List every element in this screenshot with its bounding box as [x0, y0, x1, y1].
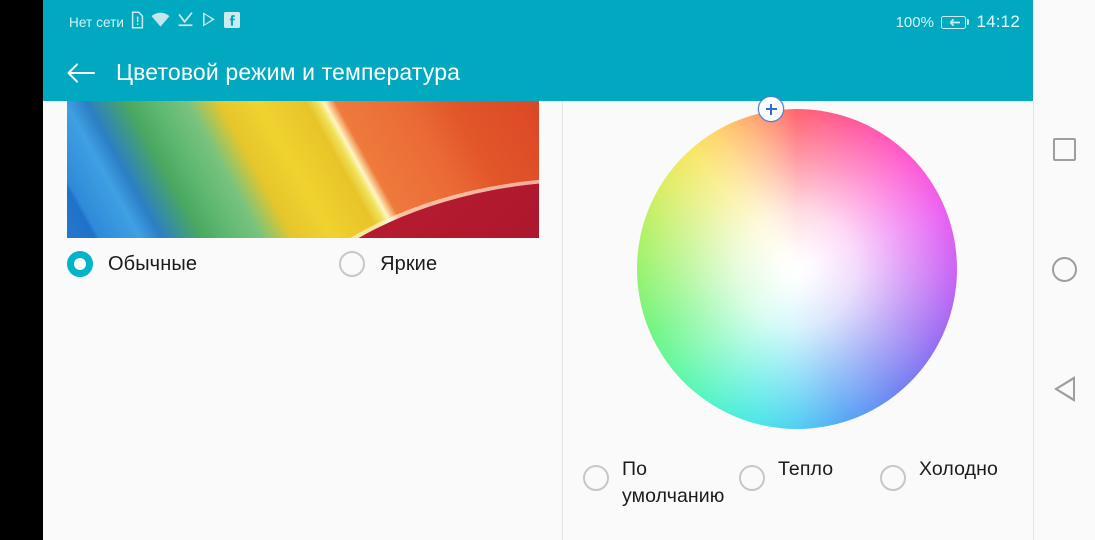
square-icon [1053, 138, 1076, 161]
radio-option-cold[interactable]: Холодно [880, 456, 1015, 491]
arrow-left-icon[interactable] [60, 52, 102, 94]
radio-label-normal: Обычные [108, 253, 197, 276]
radio-indicator-unselected[interactable] [339, 251, 365, 277]
status-bar: Нет сети [43, 0, 1033, 44]
page-title: Цветовой режим и температура [116, 59, 460, 86]
carrier-label: Нет сети [69, 15, 124, 30]
radio-label-vivid: Яркие [380, 253, 437, 276]
triangle-left-icon [1054, 376, 1075, 402]
color-mode-radio-group: Обычные Яркие [67, 251, 437, 277]
radio-label-warm: Тепло [778, 456, 874, 483]
system-navigation-bar [1033, 0, 1095, 540]
circle-icon [1052, 257, 1077, 282]
nav-bar-top-fill [1033, 0, 1095, 101]
color-wheel-handle[interactable] [758, 96, 784, 122]
radio-option-warm[interactable]: Тепло [739, 456, 874, 491]
google-play-icon [201, 11, 217, 33]
battery-percent-label: 100% [896, 14, 934, 31]
color-mode-pane: Обычные Яркие [43, 101, 562, 540]
app-bar: Цветовой режим и температура [43, 44, 1033, 101]
color-temperature-wheel[interactable] [637, 109, 957, 429]
status-bar-right: 100% 14:12 [896, 12, 1020, 32]
radio-indicator-default[interactable] [583, 465, 609, 491]
facebook-icon [224, 12, 240, 33]
radio-option-normal[interactable]: Обычные [67, 251, 197, 277]
sim-card-alert-icon [131, 11, 144, 34]
home-button[interactable] [1033, 245, 1095, 293]
radio-option-default[interactable]: По умолчанию [583, 456, 718, 510]
radio-label-default: По умолчанию [622, 456, 718, 510]
plus-icon-vertical [770, 104, 772, 115]
clock-label: 14:12 [976, 12, 1020, 32]
device-bezel-left [0, 0, 43, 540]
back-button[interactable] [1033, 365, 1095, 413]
recents-button[interactable] [1033, 125, 1095, 173]
radio-option-vivid[interactable]: Яркие [339, 251, 437, 277]
download-complete-icon [177, 11, 194, 33]
screen-root: Нет сети [0, 0, 1095, 540]
battery-charging-icon [941, 16, 970, 29]
temperature-radio-group: По умолчанию Тепло Холодно [583, 456, 1033, 510]
radio-indicator-selected[interactable] [67, 251, 93, 277]
radio-indicator-warm[interactable] [739, 465, 765, 491]
wallpaper-preview [67, 101, 539, 238]
wifi-icon [151, 12, 170, 33]
radio-label-cold: Холодно [919, 456, 1015, 483]
status-bar-left: Нет сети [69, 11, 240, 34]
phone-viewport: Нет сети [43, 0, 1033, 540]
color-temperature-pane: По умолчанию Тепло Холодно [563, 101, 1033, 540]
settings-content: Обычные Яркие [43, 101, 1033, 540]
radio-indicator-cold[interactable] [880, 465, 906, 491]
color-wheel-container [637, 109, 957, 446]
